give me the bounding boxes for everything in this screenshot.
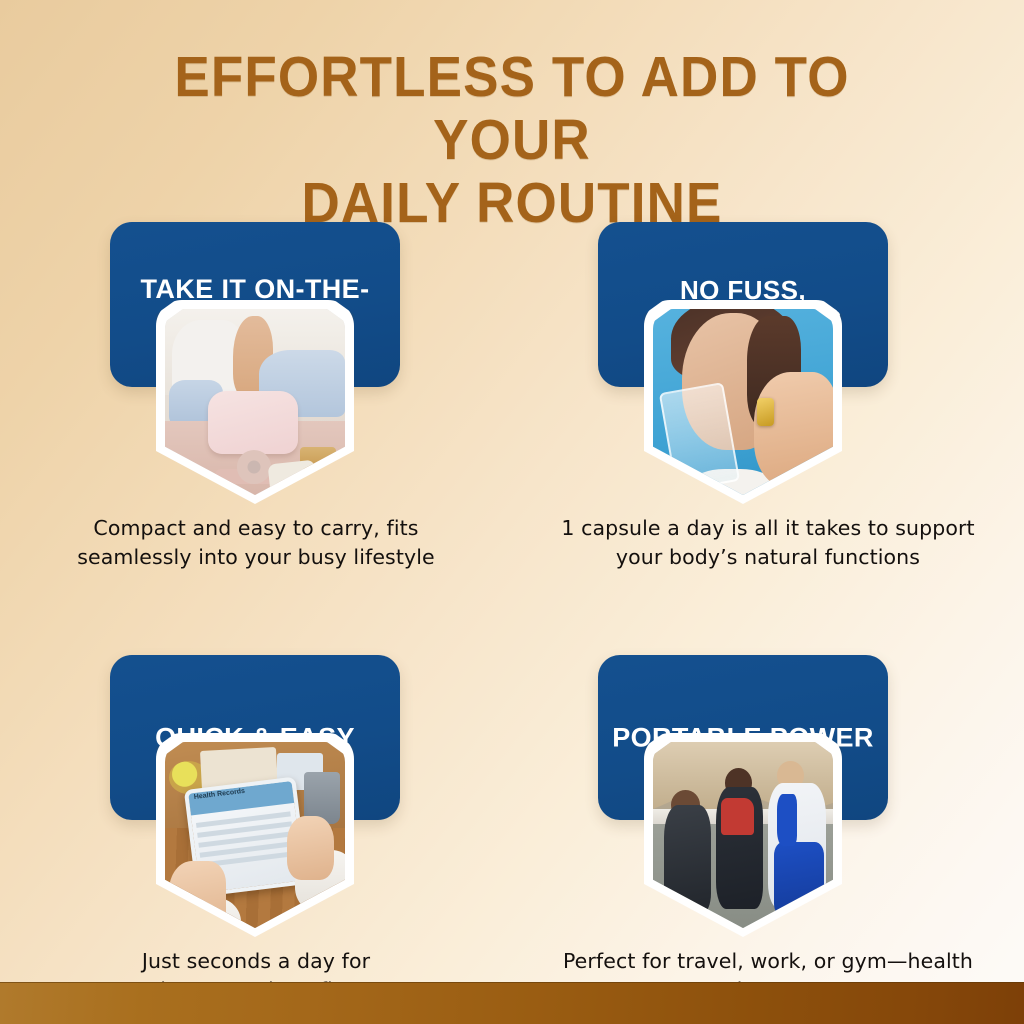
card-caption-line-1: Compact and easy to carry, fits [28, 514, 484, 543]
feature-card-take-it-on-the-go[interactable]: TAKE IT ON-THE-GO Compact and easy to ca… [0, 206, 512, 601]
card-caption-line-1: 1 capsule a day is all it takes to suppo… [540, 514, 996, 543]
shield-photo-frame [644, 733, 842, 937]
shield-photo-frame [644, 300, 842, 504]
travel-pouch-photo [165, 309, 345, 495]
card-caption-line-1: Just seconds a day for [28, 947, 484, 976]
feature-card-quick-and-easy[interactable]: QUICK & EASY Health Records [0, 639, 512, 1024]
shield-photo-frame [156, 300, 354, 504]
shield-photo-clip: Health Records [165, 742, 345, 928]
shield-photo-clip [653, 742, 833, 928]
feature-card-no-fuss-just-results[interactable]: NO FUSS, JUST RESULTS 1 capsule a day is… [512, 206, 1024, 601]
woman-taking-capsule-photo [653, 309, 833, 495]
shield-photo-clip [165, 309, 345, 495]
card-caption-line-1: Perfect for travel, work, or gym—health [540, 947, 996, 976]
infographic-page: { "title": { "line1": "EFFORTLESS TO ADD… [0, 0, 1024, 1024]
card-caption: 1 capsule a day is all it takes to suppo… [540, 514, 996, 572]
shield-photo-frame: Health Records [156, 733, 354, 937]
feature-card-grid: TAKE IT ON-THE-GO Compact and easy to ca… [0, 206, 1024, 1024]
runners-outdoors-photo [653, 742, 833, 928]
card-caption-line-2: your body’s natural functions [540, 543, 996, 572]
shield-photo-clip [653, 309, 833, 495]
tablet-health-records-photo: Health Records [165, 742, 345, 928]
bottom-accent-bar [0, 982, 1024, 1024]
card-caption-line-2: seamlessly into your busy lifestyle [28, 543, 484, 572]
feature-card-portable-power[interactable]: PORTABLE POWER Perfect for travel, work,… [512, 639, 1024, 1024]
card-caption: Compact and easy to carry, fits seamless… [28, 514, 484, 572]
page-title-line-1: EFFORTLESS TO ADD TO YOUR [92, 46, 933, 172]
